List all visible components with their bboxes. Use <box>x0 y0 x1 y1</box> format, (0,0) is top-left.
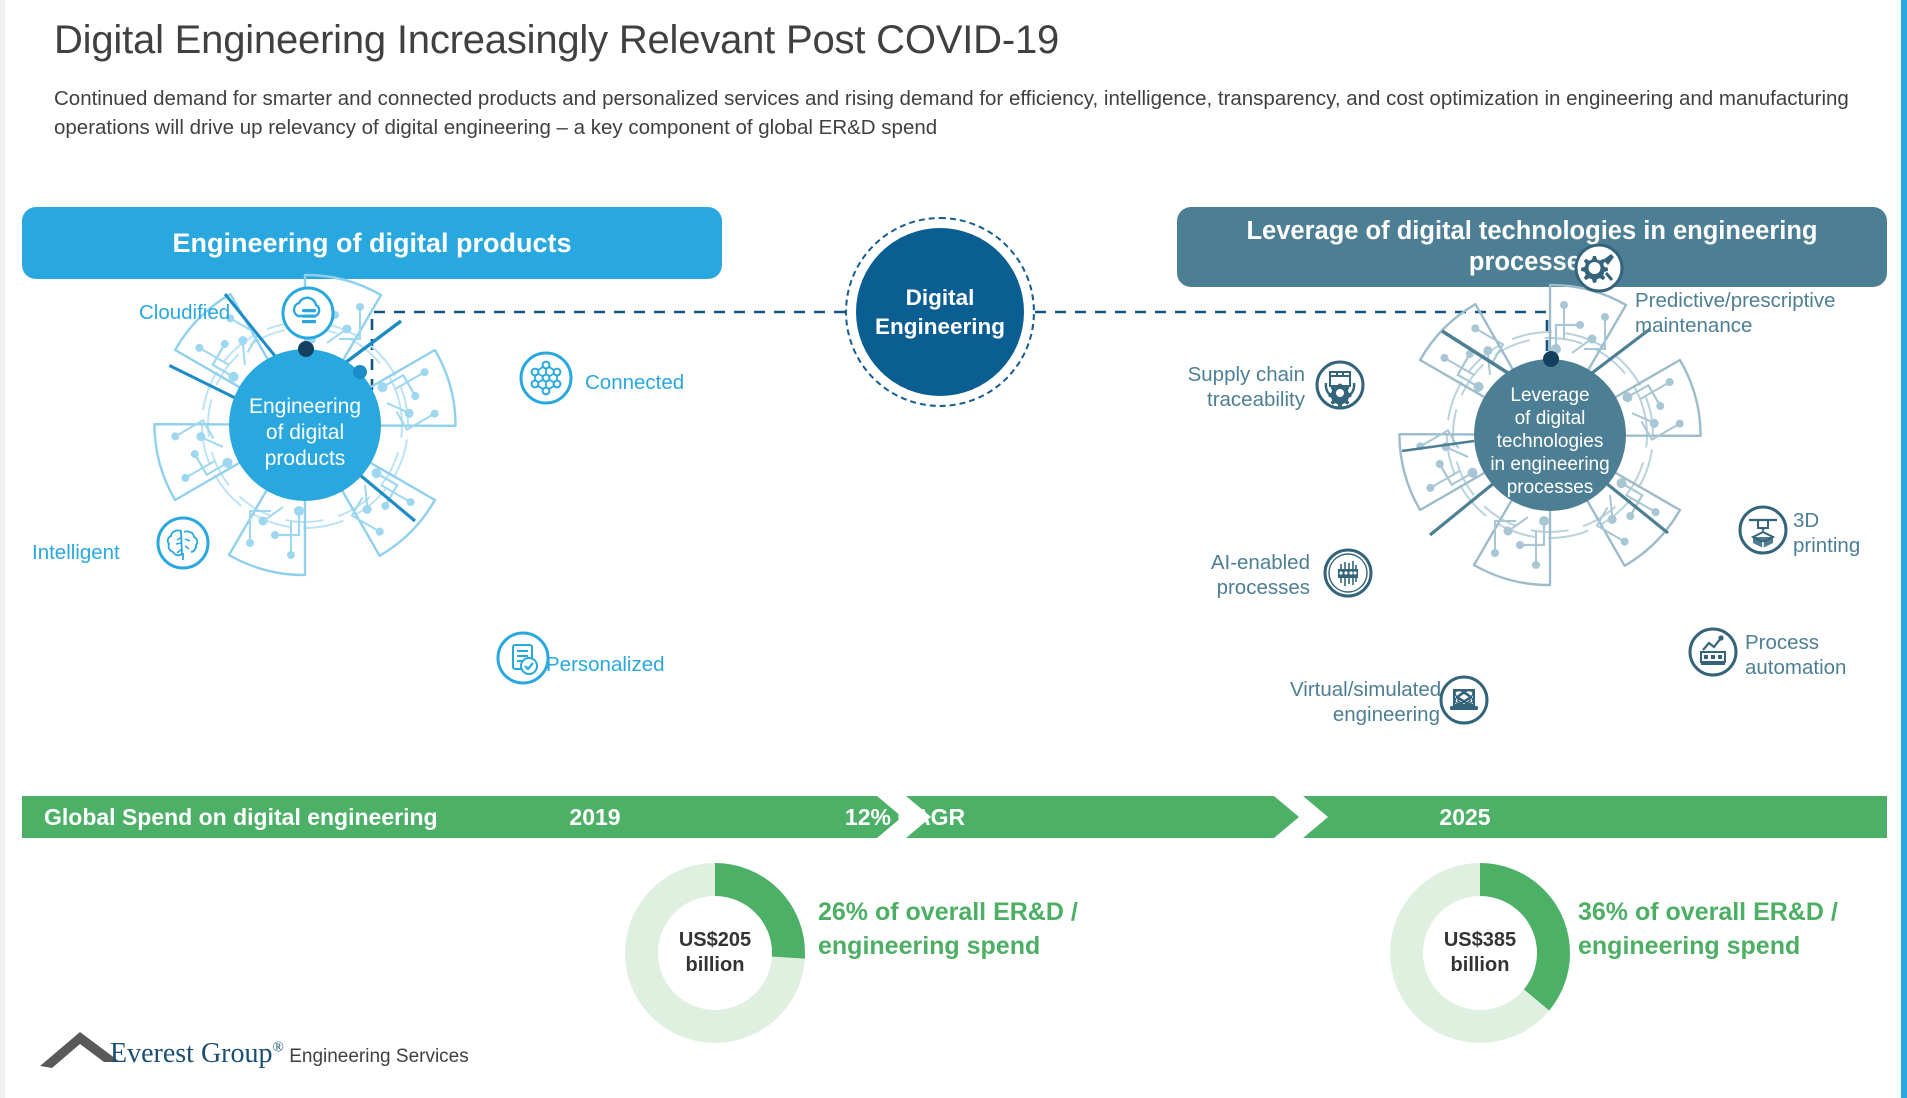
right-node-label-virtual-line2: engineering <box>1290 702 1440 727</box>
right-node-label-aienabled-line2: processes <box>1180 575 1310 600</box>
right-node-label-processauto-line2: automation <box>1745 655 1846 680</box>
chip-ai-icon <box>1322 547 1374 599</box>
svg-text:processes: processes <box>1507 477 1594 498</box>
right-node-label-virtual-line1: Virtual/simulated <box>1290 677 1440 702</box>
left-node-label-connected: Connected <box>585 370 684 395</box>
logo-registered-mark: ® <box>273 1040 284 1056</box>
right-node-label-processauto-line1: Process <box>1745 630 1819 655</box>
donut-2019-caption-line1: 26% of overall ER&D / <box>818 896 1078 930</box>
donut-2019-value-line2: billion <box>686 953 745 978</box>
center-node-line1: Digital <box>906 283 975 312</box>
right-node-label-predictive-line1: Predictive/prescriptive <box>1635 288 1836 313</box>
page-title: Digital Engineering Increasingly Relevan… <box>54 18 1059 63</box>
network-nodes-icon <box>518 350 574 406</box>
left-node-label-cloudified: Cloudified <box>139 300 230 325</box>
left-hub-graphic: Engineering of digital products <box>20 250 700 650</box>
center-node-line2: Engineering <box>875 312 1005 341</box>
donut-chart-2019: US$205 billion <box>620 858 810 1048</box>
left-edge-strip <box>0 0 5 1098</box>
automation-icon <box>1687 626 1739 678</box>
center-node-digital-engineering: Digital Engineering <box>845 217 1035 407</box>
left-node-label-intelligent: Intelligent <box>32 540 120 565</box>
right-node-label-aienabled-line1: AI-enabled <box>1180 550 1310 575</box>
right-node-label-predictive-line2: maintenance <box>1635 313 1752 338</box>
box-gear-icon <box>1314 359 1366 411</box>
spend-bar-year-2019: 2019 <box>505 804 685 831</box>
cloud-server-icon <box>280 285 336 341</box>
svg-text:Leverage: Leverage <box>1510 385 1589 406</box>
spend-bar-cagr: 12% CAGR <box>785 804 1025 831</box>
logo-name: Everest Group <box>110 1038 273 1069</box>
svg-text:products: products <box>265 447 346 470</box>
mountain-peak-icon <box>40 1032 120 1068</box>
svg-text:in engineering: in engineering <box>1490 454 1609 475</box>
right-node-label-supplychain-line2: traceability <box>1185 387 1305 412</box>
donut-2025-value-line2: billion <box>1451 953 1510 978</box>
spend-bar-label: Global Spend on digital engineering <box>44 804 438 831</box>
page-subtitle: Continued demand for smarter and connect… <box>54 84 1864 142</box>
right-node-label-supplychain-line1: Supply chain <box>1185 362 1305 387</box>
donut-2019-caption-line2: engineering spend <box>818 930 1078 964</box>
donut-2025-caption-line2: engineering spend <box>1578 930 1838 964</box>
spend-bar-year-2025: 2025 <box>1365 804 1565 831</box>
donut-2019-center-label: US$205 billion <box>658 896 772 1010</box>
slide-canvas: Digital Engineering Increasingly Relevan… <box>0 0 1907 1098</box>
gear-wrench-icon <box>1573 242 1625 294</box>
donut-2025-caption-line1: 36% of overall ER&D / <box>1578 896 1838 930</box>
svg-text:Engineering: Engineering <box>249 395 361 418</box>
brain-icon <box>155 515 211 571</box>
svg-text:technologies: technologies <box>1497 431 1604 452</box>
donut-chart-2025: US$385 billion <box>1385 858 1575 1048</box>
donut-2019-caption: 26% of overall ER&D / engineering spend <box>818 896 1078 964</box>
donut-2025-center-label: US$385 billion <box>1423 896 1537 1010</box>
3d-printer-icon <box>1737 504 1789 556</box>
right-node-label-3dprinting-line2: printing <box>1793 533 1860 558</box>
logo-wordmark: Everest Group® Engineering Services <box>110 1038 469 1070</box>
everest-group-logo: Everest Group® Engineering Services <box>38 1022 398 1082</box>
donut-2025-value-line1: US$385 <box>1444 928 1516 953</box>
left-node-label-personalized: Personalized <box>546 652 665 677</box>
svg-text:of digital: of digital <box>266 421 344 444</box>
svg-text:of digital: of digital <box>1515 408 1586 429</box>
right-node-label-3dprinting-line1: 3D <box>1793 508 1819 533</box>
donut-2025-caption: 36% of overall ER&D / engineering spend <box>1578 896 1838 964</box>
donut-2019-value-line1: US$205 <box>679 928 751 953</box>
center-node-fill: Digital Engineering <box>856 228 1024 396</box>
laptop-3d-icon <box>1438 674 1490 726</box>
document-check-icon <box>495 630 551 686</box>
logo-subtitle: Engineering Services <box>284 1046 469 1067</box>
